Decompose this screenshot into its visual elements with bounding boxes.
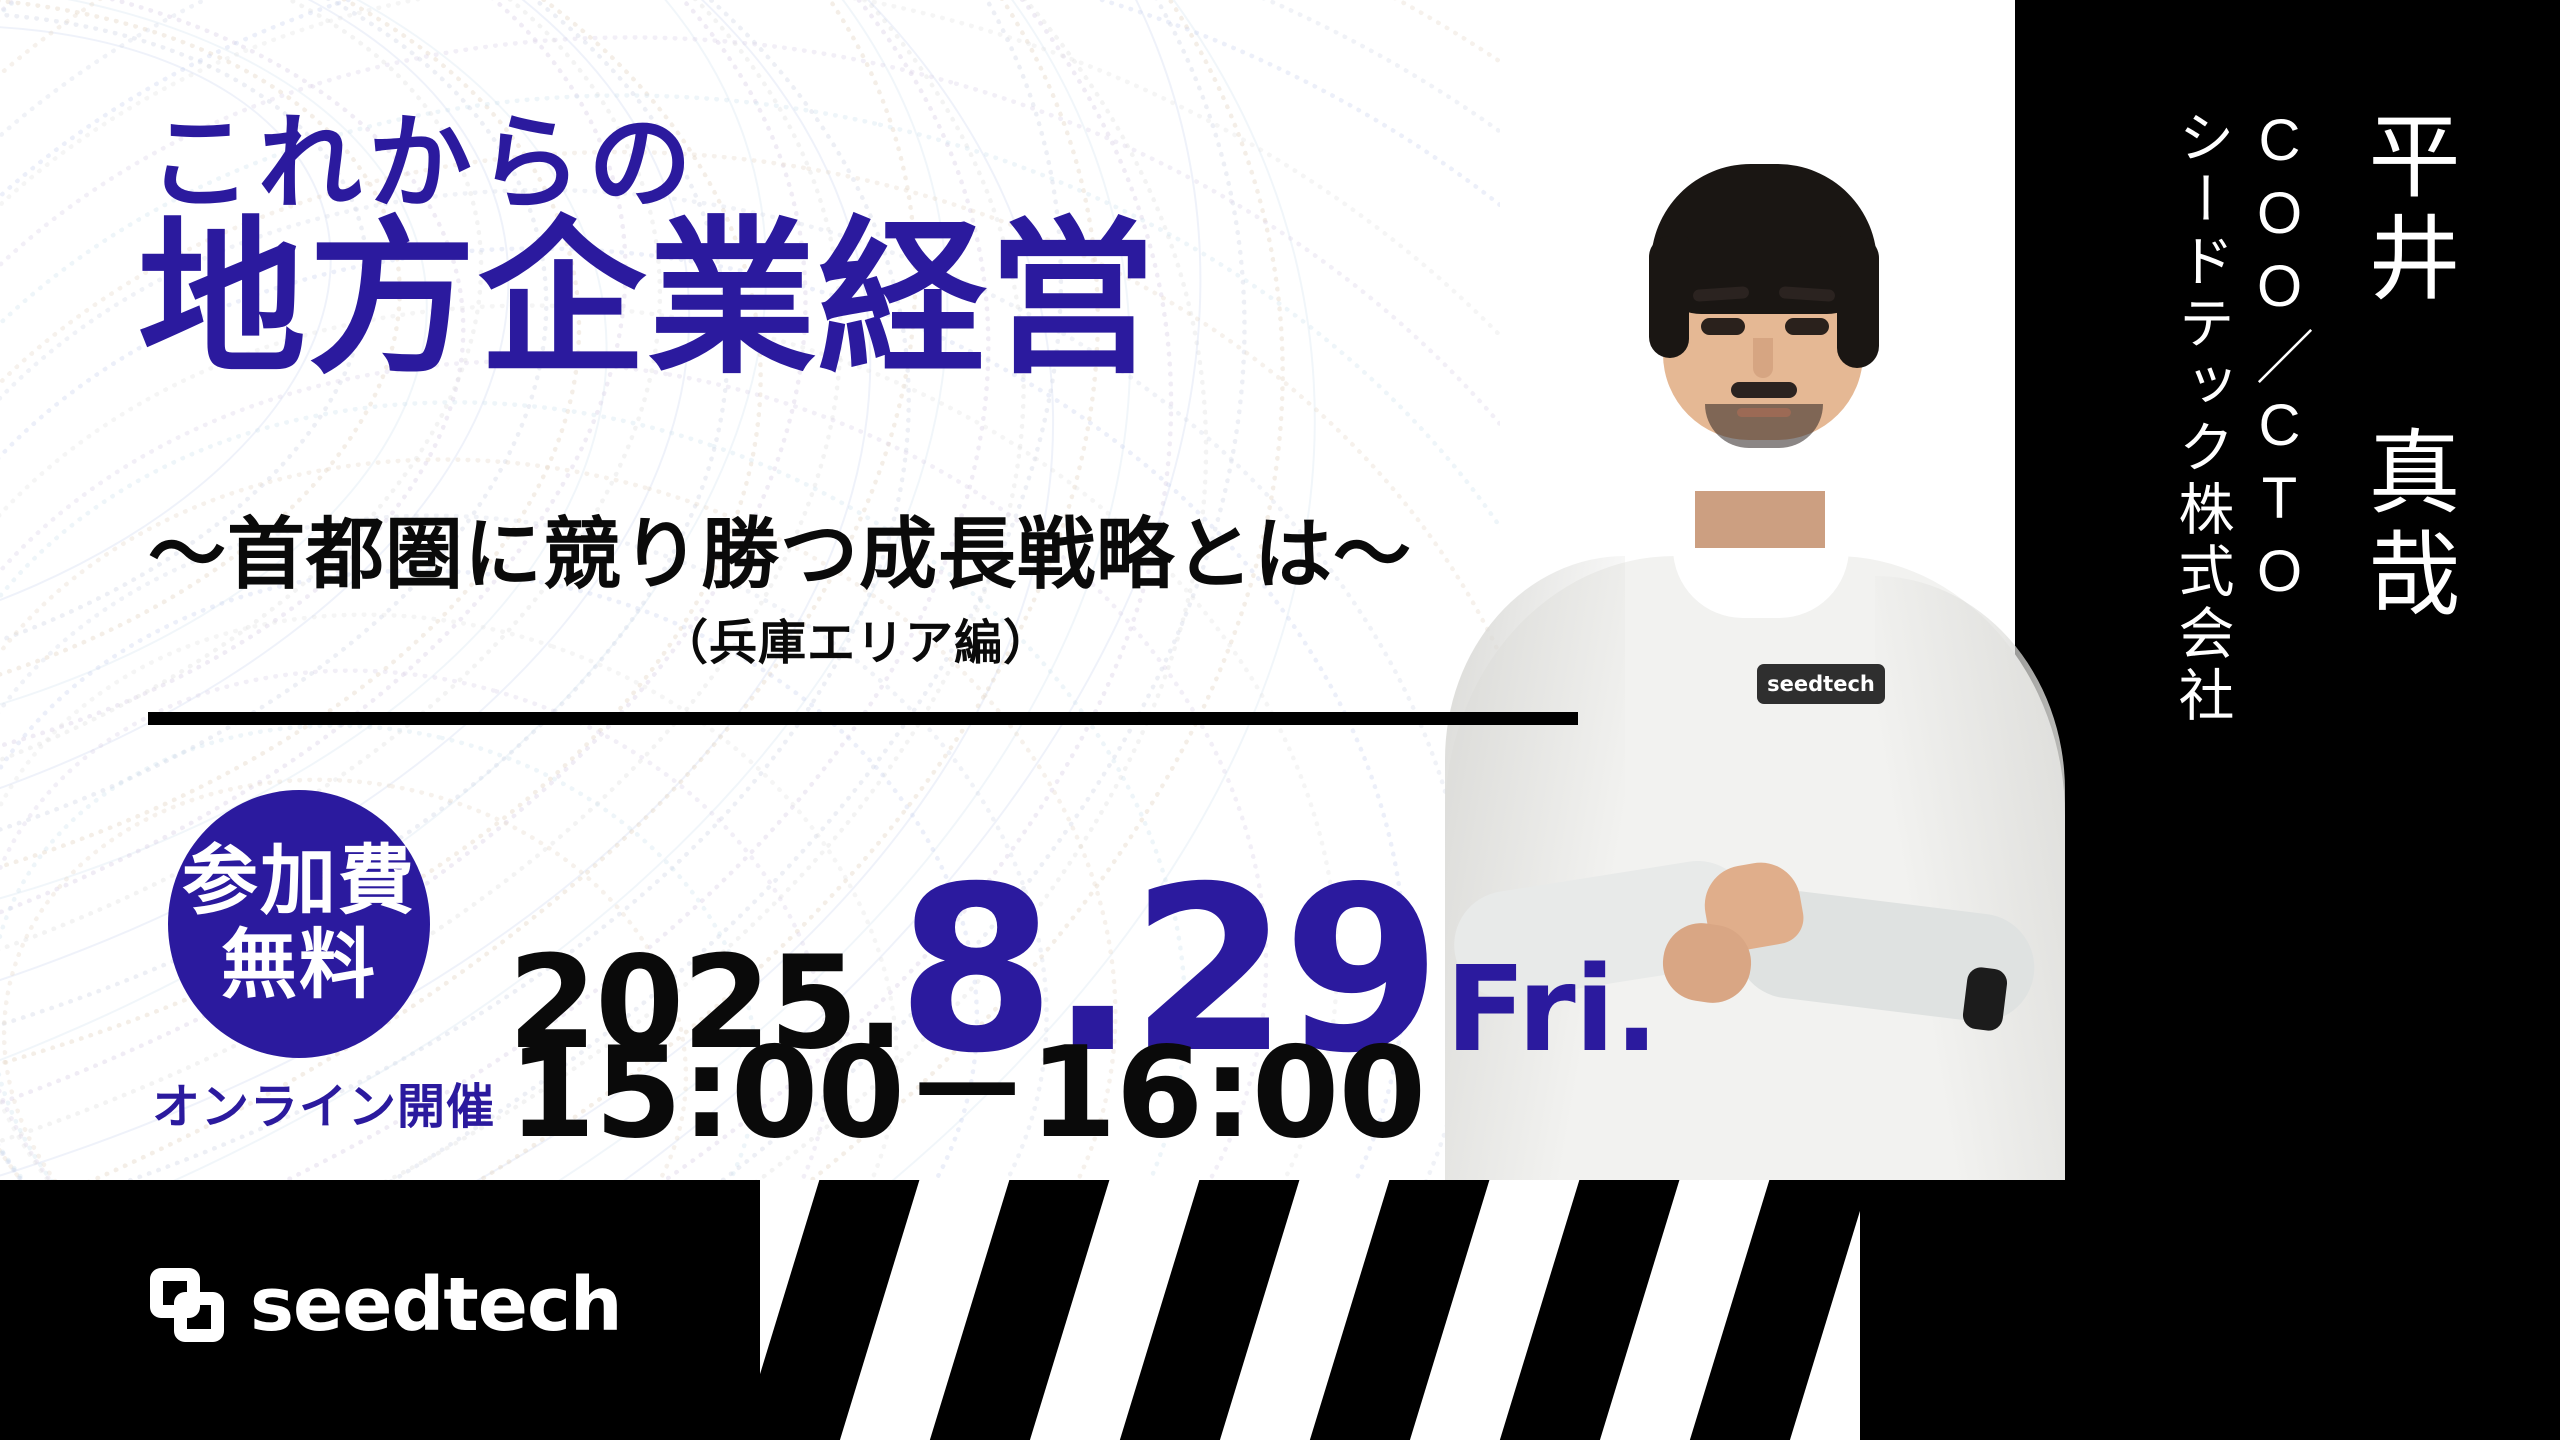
stripe: [760, 1180, 842, 1440]
fee-badge: 参加費 無料: [168, 790, 430, 1058]
divider: [148, 712, 1578, 725]
subtitle: 〜首都圏に競り勝つ成長戦略とは〜: [148, 515, 1412, 593]
speaker-company: シードテック株式会社: [2174, 108, 2230, 728]
portrait-eye-right: [1785, 318, 1829, 335]
speaker-name: 平井 真哉: [2360, 108, 2452, 628]
speaker-role: COO／CTO: [2250, 108, 2308, 612]
stripe: [1193, 1180, 1413, 1440]
portrait-mustache: [1731, 382, 1797, 398]
portrait-shirt-logo: seedtech: [1757, 664, 1885, 704]
stripe: [1383, 1180, 1603, 1440]
event-time: 15:00－16:00: [508, 1030, 1425, 1156]
portrait-shirt-logo-text: seedtech: [1767, 672, 1875, 696]
stripe: [1573, 1180, 1793, 1440]
stripe: [1763, 1180, 1860, 1440]
portrait-wristband: [1961, 966, 2008, 1032]
portrait-eye-left: [1701, 318, 1745, 335]
interlocking-squares-icon: [150, 1268, 224, 1342]
title-lead-in: これからの: [148, 112, 698, 216]
subtitle-area: （兵庫エリア編）: [660, 620, 1052, 668]
stripe: [813, 1180, 1033, 1440]
diagonal-stripes-pattern: [760, 1180, 1860, 1440]
online-event-label: オンライン開催: [152, 1084, 495, 1132]
fee-badge-label: 参加費: [182, 842, 416, 922]
seedtech-logo: seedtech: [150, 1268, 622, 1342]
seedtech-wordmark: seedtech: [250, 1268, 622, 1342]
portrait-hair-side-right: [1837, 236, 1879, 368]
fee-badge-value: 無料: [221, 926, 377, 1006]
stripe: [1003, 1180, 1223, 1440]
event-day-of-week: Fri.: [1445, 950, 1658, 1068]
page-title: 地方企業経営: [138, 215, 1158, 383]
webinar-banner: 平井 真哉 COO／CTO シードテック株式会社 seedtech これか: [0, 0, 2560, 1440]
portrait-hair-side-left: [1649, 236, 1689, 358]
portrait-nose: [1753, 338, 1773, 378]
portrait-mouth: [1737, 408, 1791, 417]
